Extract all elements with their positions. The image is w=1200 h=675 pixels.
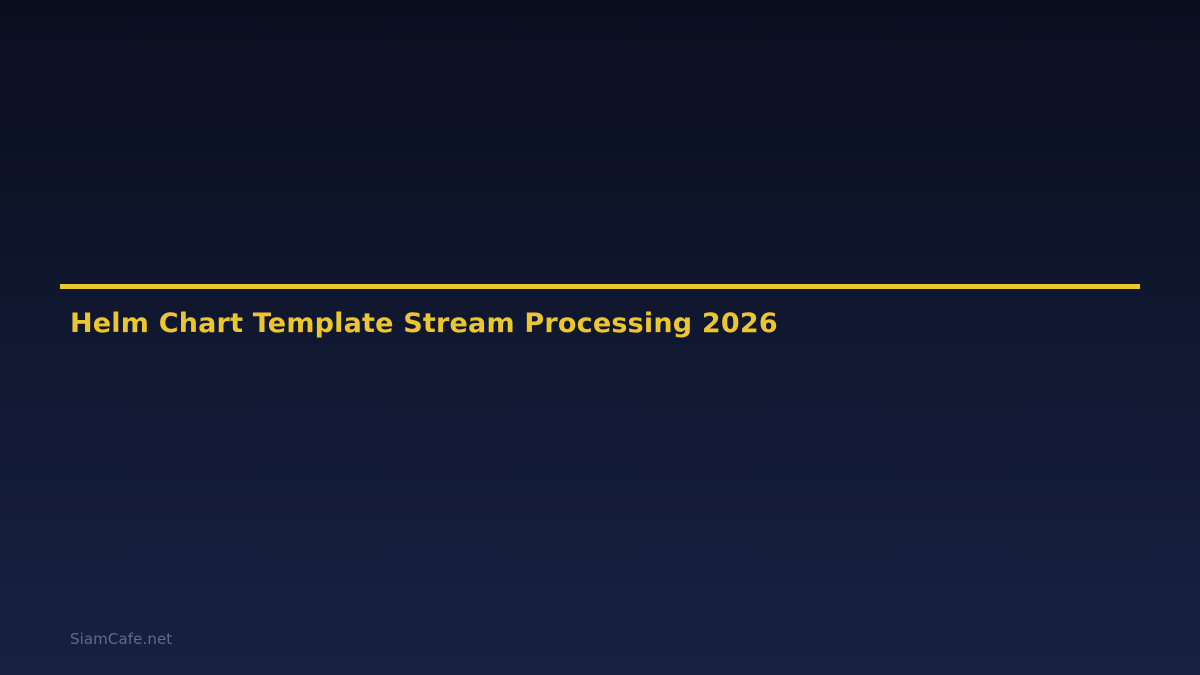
page-title: Helm Chart Template Stream Processing 20… [60, 289, 1140, 342]
footer-branding: SiamCafe.net [70, 630, 172, 648]
slide-canvas: Helm Chart Template Stream Processing 20… [0, 0, 1200, 675]
title-block: Helm Chart Template Stream Processing 20… [60, 284, 1140, 342]
